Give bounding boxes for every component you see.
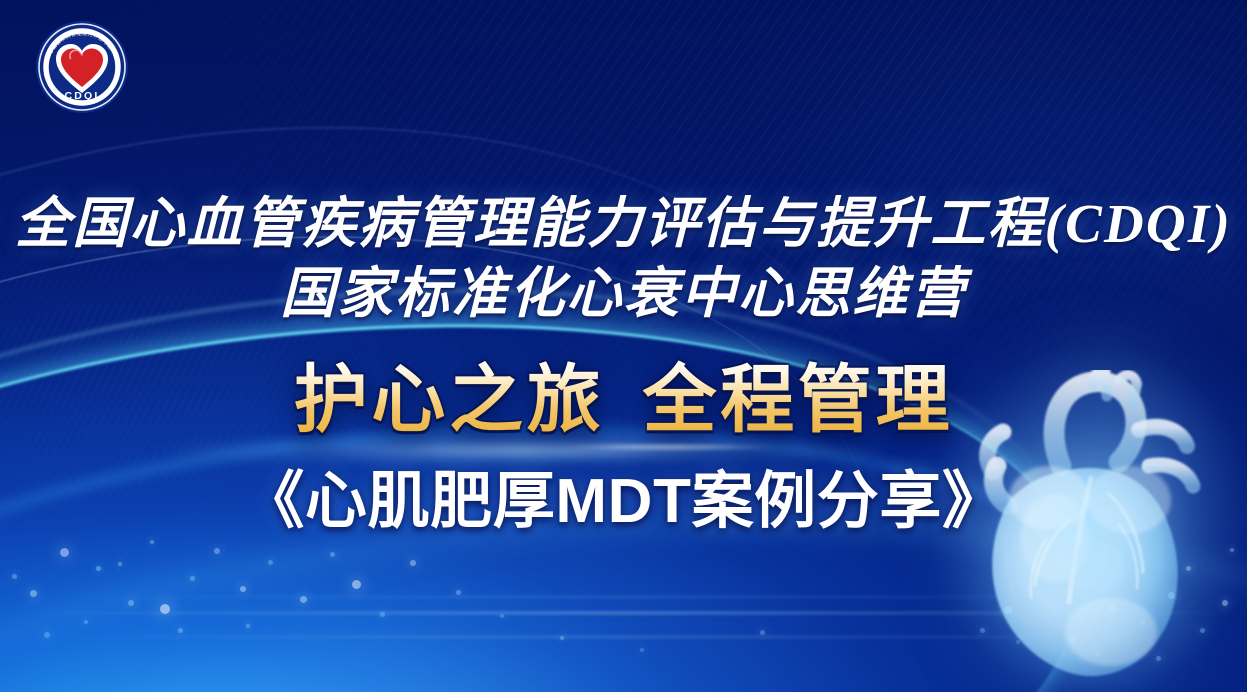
bokeh-dot [456,590,461,595]
bokeh-dot [128,600,134,606]
bokeh-dot [330,552,335,557]
bokeh-dot [178,628,183,633]
headline-right: 全程管理 [643,358,954,441]
subtitle: 《心肌肥厚MDT案例分享》 [0,450,1247,540]
bokeh-dot [190,576,195,581]
bokeh-dot [240,586,246,592]
bokeh-dot [268,560,273,565]
logo-acronym-text: CDQI [64,90,99,102]
bokeh-dot [44,632,50,638]
bokeh-dot [96,566,101,571]
bokeh-dot [150,540,154,544]
bokeh-dot [118,562,122,566]
bokeh-dot [640,648,644,652]
poster-banner: 全国心血管疾病管理能力评估与提升工程 CDQI 全国心血管疾病管理能力评估与提升… [0,0,1247,692]
bokeh-dot [560,636,564,640]
bokeh-dot [160,604,170,614]
cdqi-logo[interactable]: 全国心血管疾病管理能力评估与提升工程 CDQI [34,19,130,115]
bokeh-dot [500,614,504,618]
program-title-line-2: 国家标准化心衰中心思维营 [0,248,1247,328]
bokeh-dot [214,548,220,554]
bokeh-dot [760,630,765,635]
bokeh-dot [84,620,88,624]
bokeh-dot [352,580,361,589]
headline-left: 护心之旅 [294,358,605,441]
bokeh-dot [246,624,250,628]
headline: 护心之旅全程管理 [0,340,1247,447]
cdqi-logo-svg: 全国心血管疾病管理能力评估与提升工程 CDQI [34,19,130,115]
bokeh-dot [380,612,385,617]
bokeh-dot [300,596,307,603]
bokeh-dot [12,574,17,579]
bokeh-dot [30,590,37,597]
bokeh-dot [410,560,416,566]
program-title-line-1: 全国心血管疾病管理能力评估与提升工程(CDQI) [0,178,1247,258]
bokeh-dot [60,548,69,557]
